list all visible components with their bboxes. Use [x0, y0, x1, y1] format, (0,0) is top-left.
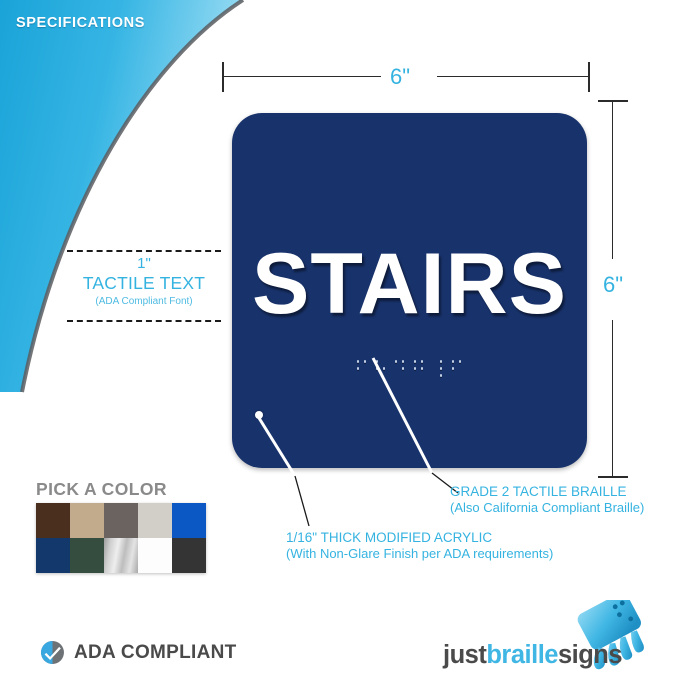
color-swatch-charcoal[interactable] — [172, 538, 206, 573]
height-dimension-label: 6" — [603, 272, 623, 298]
braille-leader-line — [370, 355, 600, 495]
height-dimension: 6" — [595, 100, 631, 480]
logo-part-braille: braille — [486, 641, 558, 669]
width-dimension-label: 6" — [390, 64, 410, 90]
callout-braille: GRADE 2 TACTILE BRAILLE (Also California… — [450, 483, 644, 517]
page-title: SPECIFICATIONS — [16, 15, 145, 31]
logo-part-just: just — [443, 641, 486, 669]
callout-acrylic-main: 1/16" THICK MODIFIED ACRYLIC — [286, 529, 553, 546]
color-swatch-navy[interactable] — [36, 538, 70, 573]
ada-compliant-label: ADA COMPLIANT — [74, 642, 237, 664]
color-swatch-tan[interactable] — [70, 503, 104, 538]
callout-braille-main: GRADE 2 TACTILE BRAILLE — [450, 483, 644, 500]
specification-sheet: SPECIFICATIONS 6" 6" STAIRS — [0, 0, 679, 680]
color-swatch-grid[interactable] — [36, 503, 206, 573]
color-swatch-forest-green[interactable] — [70, 538, 104, 573]
callout-braille-sub: (Also California Compliant Braille) — [450, 500, 644, 517]
logo-wordmark: justbraillesigns — [443, 641, 622, 670]
color-swatch-white[interactable] — [138, 538, 172, 573]
color-swatch-dark-brown[interactable] — [36, 503, 70, 538]
decorative-swoosh — [0, 0, 270, 400]
pick-a-color-title: PICK A COLOR — [36, 479, 167, 500]
color-swatch-bright-blue[interactable] — [172, 503, 206, 538]
check-circle-icon — [40, 640, 65, 665]
sign-text: STAIRS — [232, 241, 587, 327]
ada-compliant-badge: ADA COMPLIANT — [40, 640, 237, 665]
acrylic-leader-line — [257, 418, 327, 533]
braille-cell — [357, 360, 368, 380]
tactile-text-annotation: 1" TACTILE TEXT (ADA Compliant Font) — [67, 250, 221, 322]
callout-acrylic: 1/16" THICK MODIFIED ACRYLIC (With Non-G… — [286, 529, 553, 563]
tactile-size-label: 1" — [67, 255, 221, 272]
width-dimension: 6" — [222, 62, 590, 92]
callout-acrylic-sub: (With Non-Glare Finish per ADA requireme… — [286, 546, 553, 563]
tactile-sub-label: (ADA Compliant Font) — [67, 296, 221, 307]
color-swatch-light-gray[interactable] — [138, 503, 172, 538]
color-swatch-warm-gray[interactable] — [104, 503, 138, 538]
brand-logo[interactable]: justbraillesigns — [443, 600, 658, 672]
logo-part-signs: signs — [558, 641, 622, 669]
tactile-main-label: TACTILE TEXT — [67, 273, 221, 294]
color-swatch-brushed-silver[interactable] — [104, 538, 138, 573]
